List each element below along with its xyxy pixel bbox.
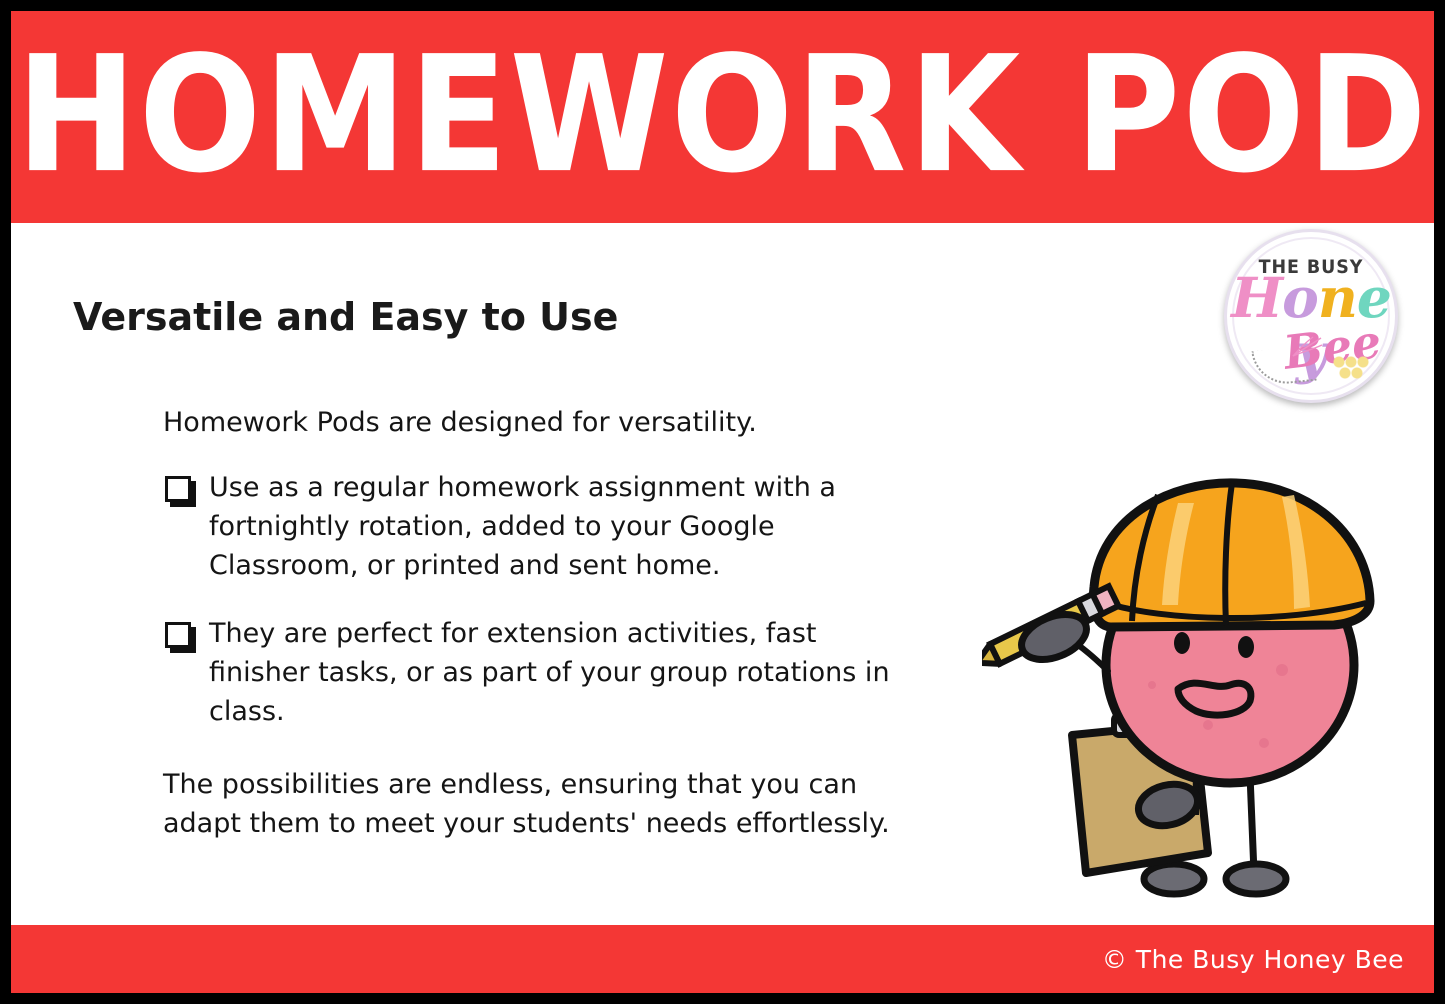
header-banner: HOMEWORK POD (11, 11, 1434, 223)
hard-hat-icon (1093, 483, 1370, 627)
content-area: Versatile and Easy to Use Homework Pods … (11, 223, 1434, 925)
poster-sheet: HOMEWORK POD Versatile and Easy to Use H… (11, 11, 1434, 993)
intro-paragraph: Homework Pods are designed for versatili… (163, 403, 893, 442)
list-item-label: They are perfect for extension activitie… (209, 618, 890, 727)
honeycomb-icon (1333, 356, 1373, 382)
page-title: HOMEWORK POD (16, 41, 1429, 193)
list-item: They are perfect for extension activitie… (163, 614, 893, 731)
character-svg (982, 475, 1402, 925)
copyright-text: © The Busy Honey Bee (1102, 945, 1434, 974)
character-illustration (982, 475, 1402, 925)
list-item: Use as a regular homework assignment wit… (163, 468, 893, 585)
checkbox-icon (165, 622, 191, 648)
logo-letter-h: H (1231, 270, 1282, 325)
feature-bullet-list: Use as a regular homework assignment wit… (163, 468, 893, 731)
closing-paragraph: The possibilities are endless, ensuring … (163, 765, 893, 843)
list-item-label: Use as a regular homework assignment wit… (209, 472, 836, 581)
body-text-block: Homework Pods are designed for versatili… (163, 403, 893, 843)
logo-letter-o: o (1282, 270, 1318, 325)
flower-icon (1291, 336, 1325, 358)
poster-page: HOMEWORK POD Versatile and Easy to Use H… (0, 0, 1445, 1004)
section-heading: Versatile and Easy to Use (73, 295, 618, 339)
footer-banner: © The Busy Honey Bee (11, 925, 1434, 993)
checkbox-icon (165, 476, 191, 502)
brand-logo: THE BUSY Honey Bee (1224, 229, 1398, 403)
